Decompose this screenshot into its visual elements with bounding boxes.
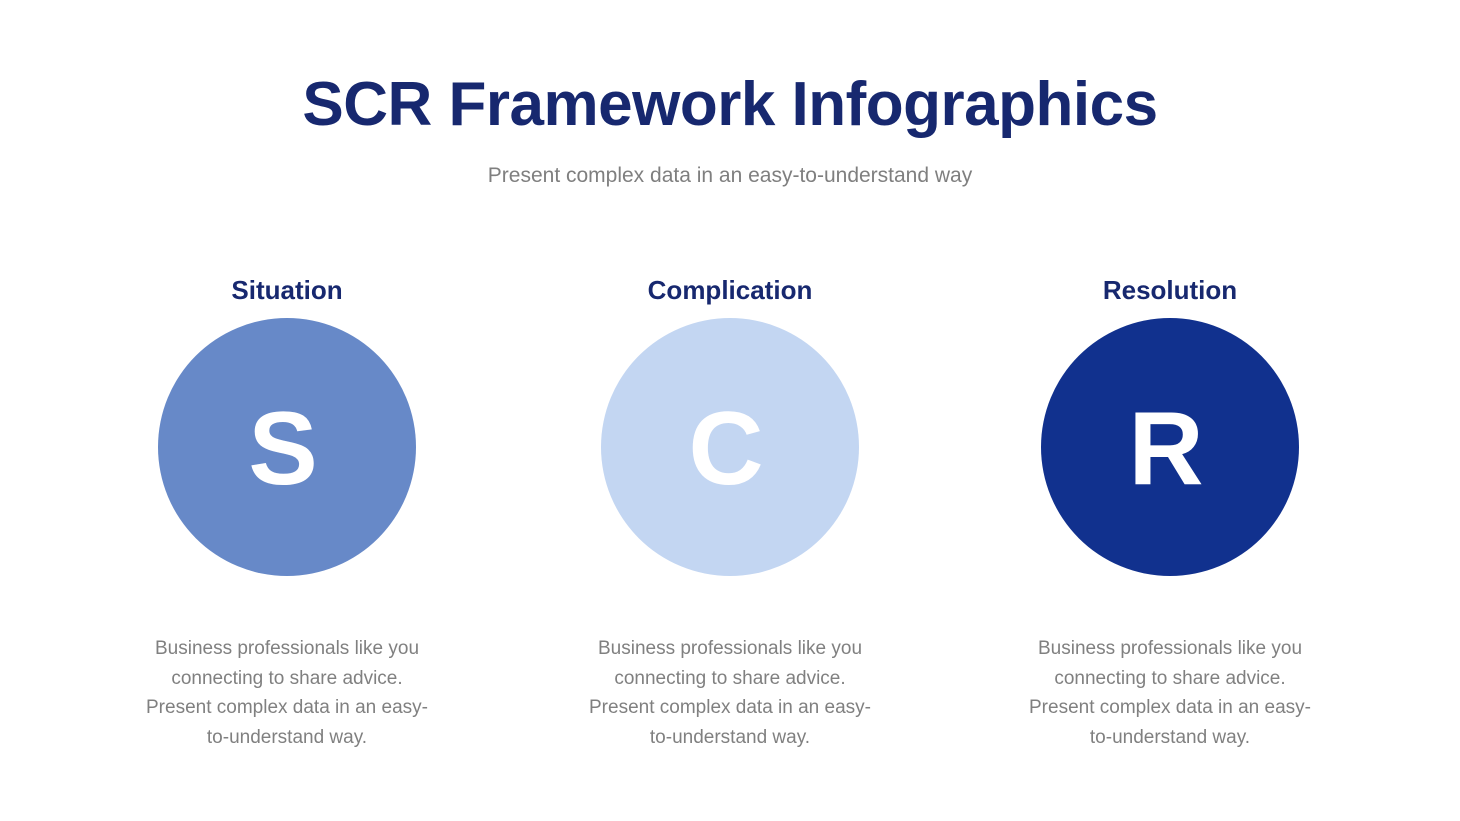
framework-column-complication[interactable]: Complication C Business professionals li… <box>580 275 880 752</box>
circle-badge-resolution[interactable]: R <box>1041 318 1299 576</box>
circle-letter-complication: C <box>688 397 763 501</box>
framework-columns: Situation S Business professionals like … <box>0 275 1460 775</box>
framework-column-resolution[interactable]: Resolution R Business professionals like… <box>1020 275 1320 752</box>
column-heading-resolution: Resolution <box>1020 275 1320 306</box>
column-body-resolution: Business professionals like you connecti… <box>1025 602 1315 752</box>
circle-wrap-complication: C <box>580 318 880 602</box>
circle-badge-situation[interactable]: S <box>158 318 416 576</box>
slide-canvas: SCR Framework Infographics Present compl… <box>0 0 1460 821</box>
circle-wrap-situation: S <box>137 318 437 602</box>
page-title: SCR Framework Infographics <box>0 74 1460 136</box>
column-heading-situation: Situation <box>137 275 437 306</box>
slide-header: SCR Framework Infographics Present compl… <box>0 74 1460 187</box>
column-body-complication: Business professionals like you connecti… <box>585 602 875 752</box>
circle-wrap-resolution: R <box>1020 318 1320 602</box>
circle-letter-resolution: R <box>1128 397 1203 501</box>
column-body-situation: Business professionals like you connecti… <box>142 602 432 752</box>
circle-letter-situation: S <box>248 397 317 501</box>
circle-badge-complication[interactable]: C <box>601 318 859 576</box>
page-subtitle: Present complex data in an easy-to-under… <box>0 136 1460 187</box>
framework-column-situation[interactable]: Situation S Business professionals like … <box>137 275 437 752</box>
column-heading-complication: Complication <box>580 275 880 306</box>
